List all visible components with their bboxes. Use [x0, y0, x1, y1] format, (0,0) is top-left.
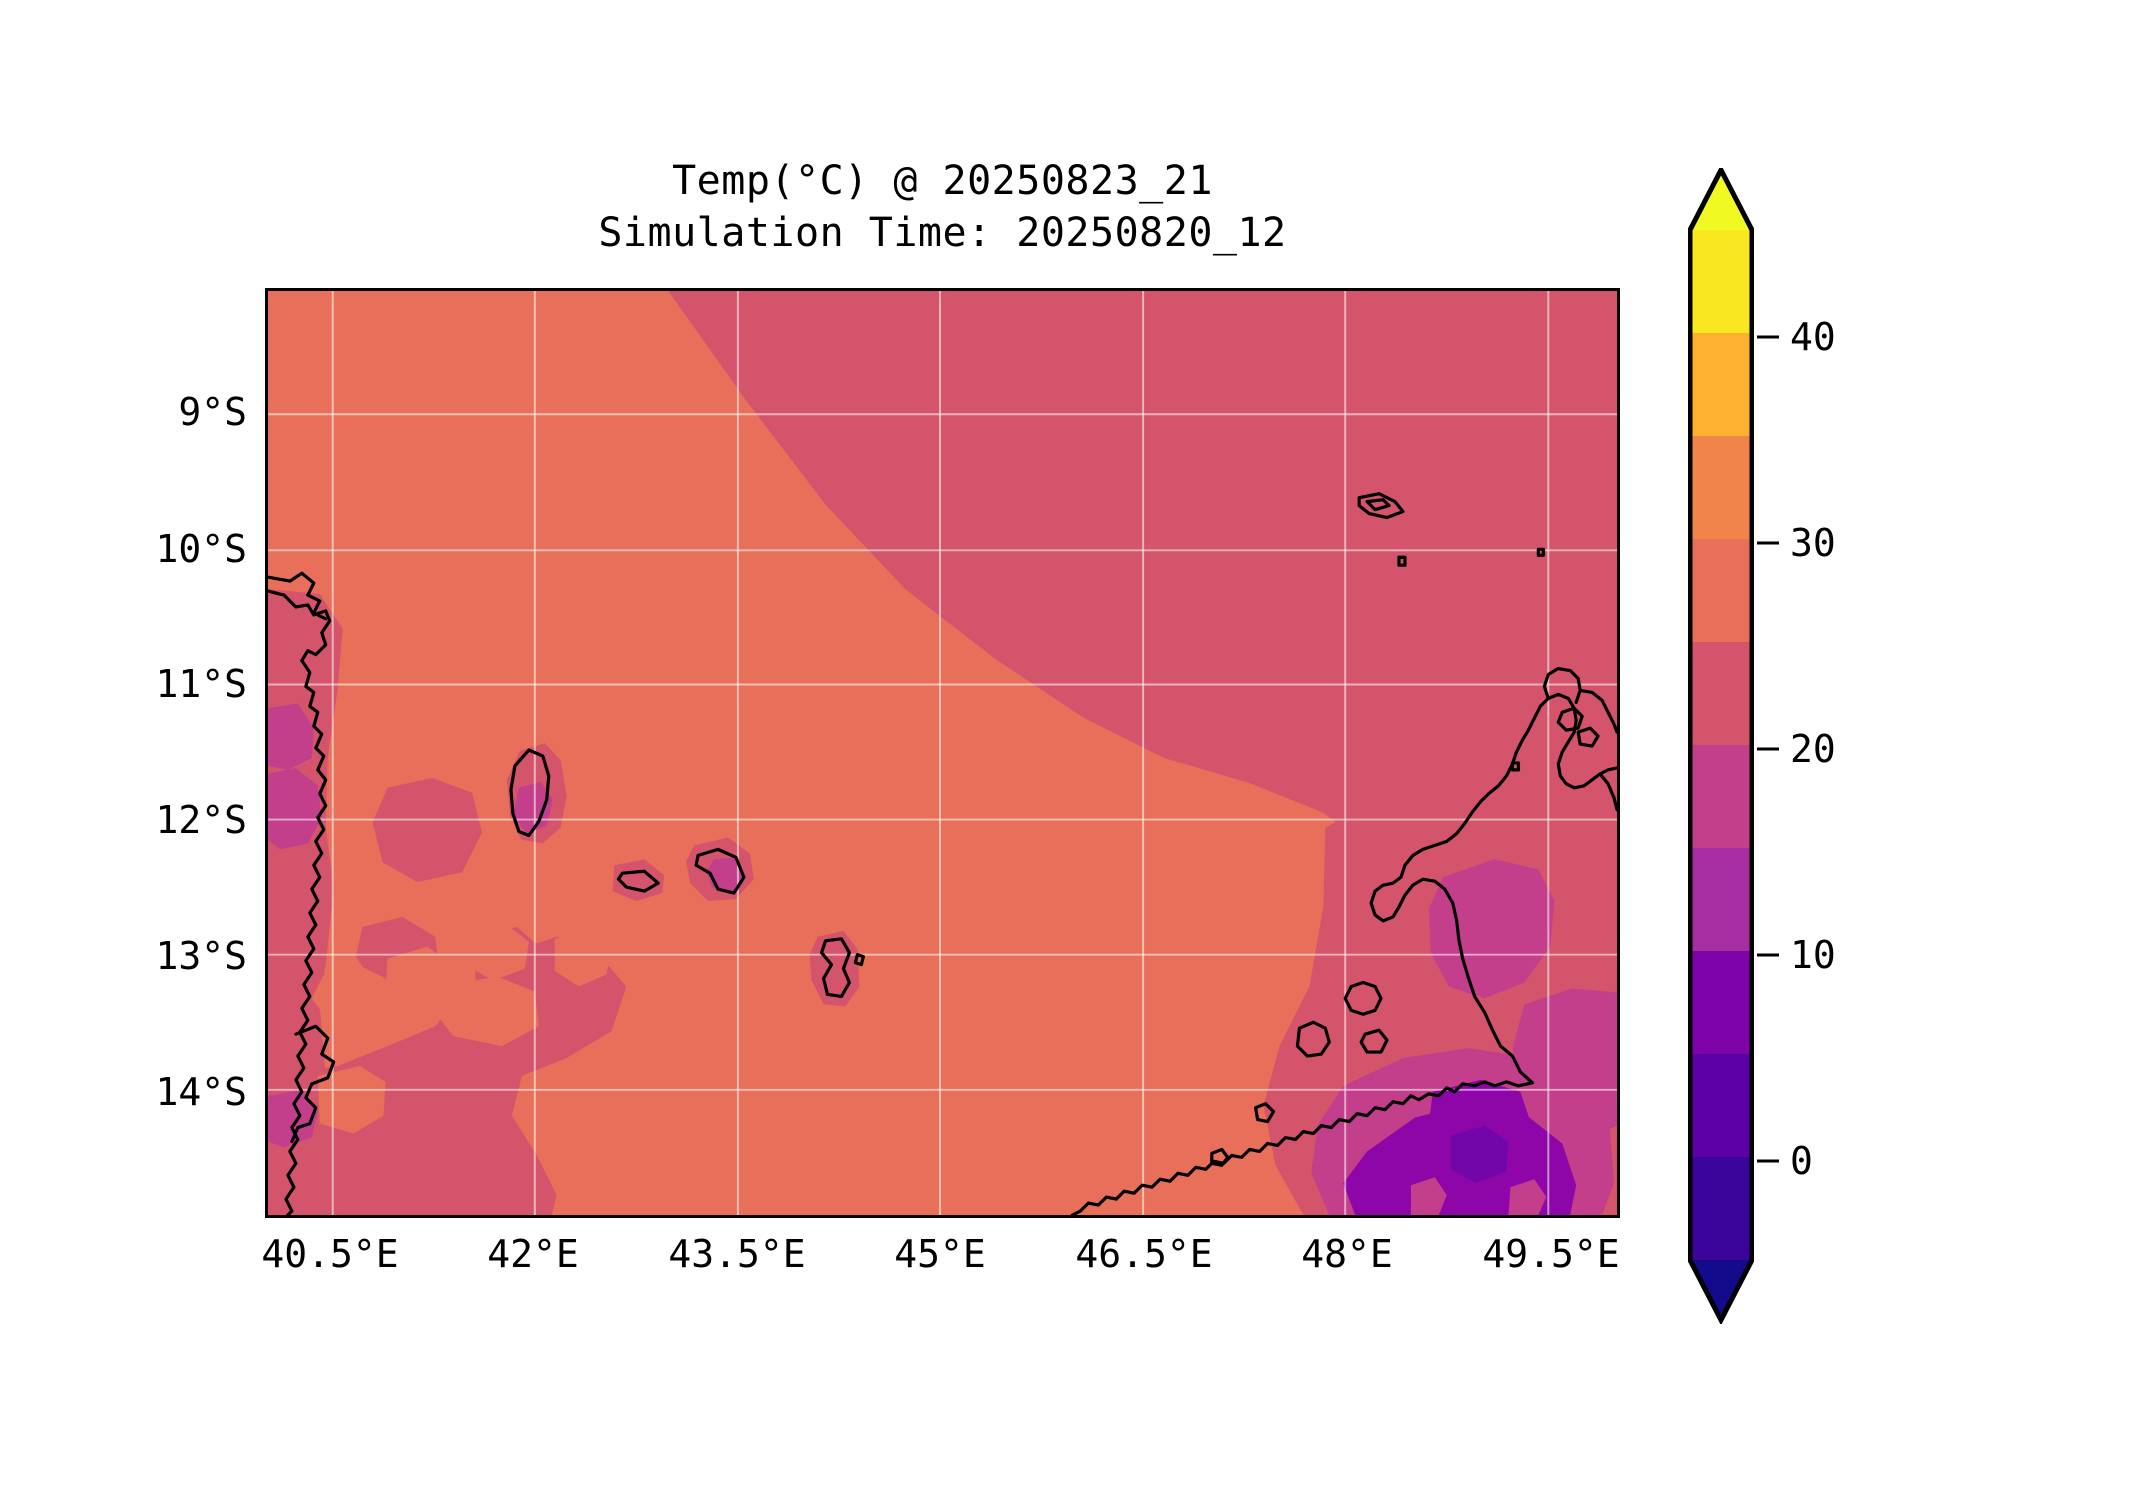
- xtick-label-43-5e: 43.5°E: [668, 1232, 805, 1276]
- ytick-label-11s: 11°S: [155, 662, 247, 706]
- colorbar-label-0: 0: [1790, 1139, 1813, 1183]
- colorbar-tickmark-20: [1757, 748, 1779, 751]
- colorbar-band-25-30: [1688, 539, 1754, 642]
- ytick-label-10s: 10°S: [155, 527, 247, 571]
- colorbar-under-arrow: [1688, 1260, 1754, 1324]
- colorbar-gradient: [1688, 168, 1754, 1324]
- temperature-contour-map: [268, 291, 1617, 1215]
- xtick-label-49-5e: 49.5°E: [1482, 1232, 1619, 1276]
- colorbar-tickmark-40: [1757, 336, 1779, 339]
- colorbar-label-20: 20: [1790, 727, 1836, 771]
- colorbar-band-20-25: [1688, 642, 1754, 745]
- colorbar-tickmark-10: [1757, 954, 1779, 957]
- xtick-label-40-5e: 40.5°E: [261, 1232, 398, 1276]
- ytick-label-14s: 14°S: [155, 1070, 247, 1114]
- colorbar-band-15-20: [1688, 745, 1754, 848]
- colorbar-band-0-5: [1688, 1054, 1754, 1157]
- xtick-label-42e: 42°E: [487, 1232, 579, 1276]
- xtick-label-45e: 45°E: [894, 1232, 986, 1276]
- colorbar-band-35-40: [1688, 333, 1754, 436]
- figure-canvas: Temp(°C) @ 20250823_21 Simulation Time: …: [0, 0, 2142, 1500]
- xtick-label-48e: 48°E: [1301, 1232, 1393, 1276]
- colorbar-label-30: 30: [1790, 521, 1836, 565]
- chart-title: Temp(°C) @ 20250823_21 Simulation Time: …: [265, 155, 1620, 259]
- ytick-label-13s: 13°S: [155, 934, 247, 978]
- colorbar-tickmark-30: [1757, 542, 1779, 545]
- ytick-label-9s: 9°S: [178, 390, 247, 434]
- ytick-label-12s: 12°S: [155, 798, 247, 842]
- title-line-2: Simulation Time: 20250820_12: [265, 207, 1620, 259]
- colorbar-band-40-45: [1688, 230, 1754, 333]
- colorbar: [1688, 168, 1754, 1324]
- colorbar-tickmark-0: [1757, 1160, 1779, 1163]
- colorbar-label-40: 40: [1790, 315, 1836, 359]
- colorbar-label-10: 10: [1790, 933, 1836, 977]
- colorbar-band-minus5-0: [1688, 1157, 1754, 1260]
- colorbar-over-arrow: [1688, 168, 1754, 230]
- colorbar-band-5-10: [1688, 951, 1754, 1054]
- colorbar-band-30-35: [1688, 436, 1754, 539]
- title-line-1: Temp(°C) @ 20250823_21: [265, 155, 1620, 207]
- map-axes: [265, 288, 1620, 1218]
- colorbar-band-10-15: [1688, 848, 1754, 951]
- xtick-label-46-5e: 46.5°E: [1075, 1232, 1212, 1276]
